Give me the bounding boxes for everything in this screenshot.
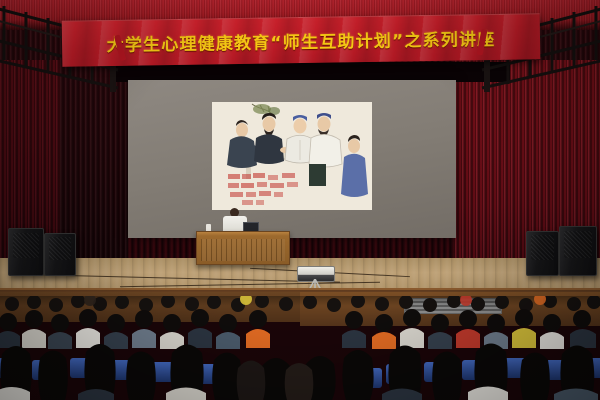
slide-image bbox=[212, 102, 372, 210]
pa-speaker-left-outer bbox=[8, 228, 44, 276]
student-audience bbox=[0, 296, 600, 400]
pa-speaker-right-inner bbox=[526, 231, 559, 276]
pa-speaker-left-inner bbox=[44, 233, 76, 276]
audience-row-mid bbox=[0, 309, 596, 349]
audience-crowd bbox=[0, 296, 600, 400]
presenter-desk bbox=[196, 231, 290, 265]
pa-speaker-right-outer bbox=[559, 226, 597, 276]
event-banner: 大学生心理健康教育“师生互助计划”之系列讲座 bbox=[62, 13, 541, 67]
audience-row-far bbox=[5, 296, 600, 312]
event-banner-text: 大学生心理健康教育“师生互助计划”之系列讲座 bbox=[106, 25, 495, 56]
projection-screen bbox=[128, 80, 456, 238]
lecture-hall-photo: 大学生心理健康教育“师生互助计划”之系列讲座 bbox=[0, 0, 600, 400]
